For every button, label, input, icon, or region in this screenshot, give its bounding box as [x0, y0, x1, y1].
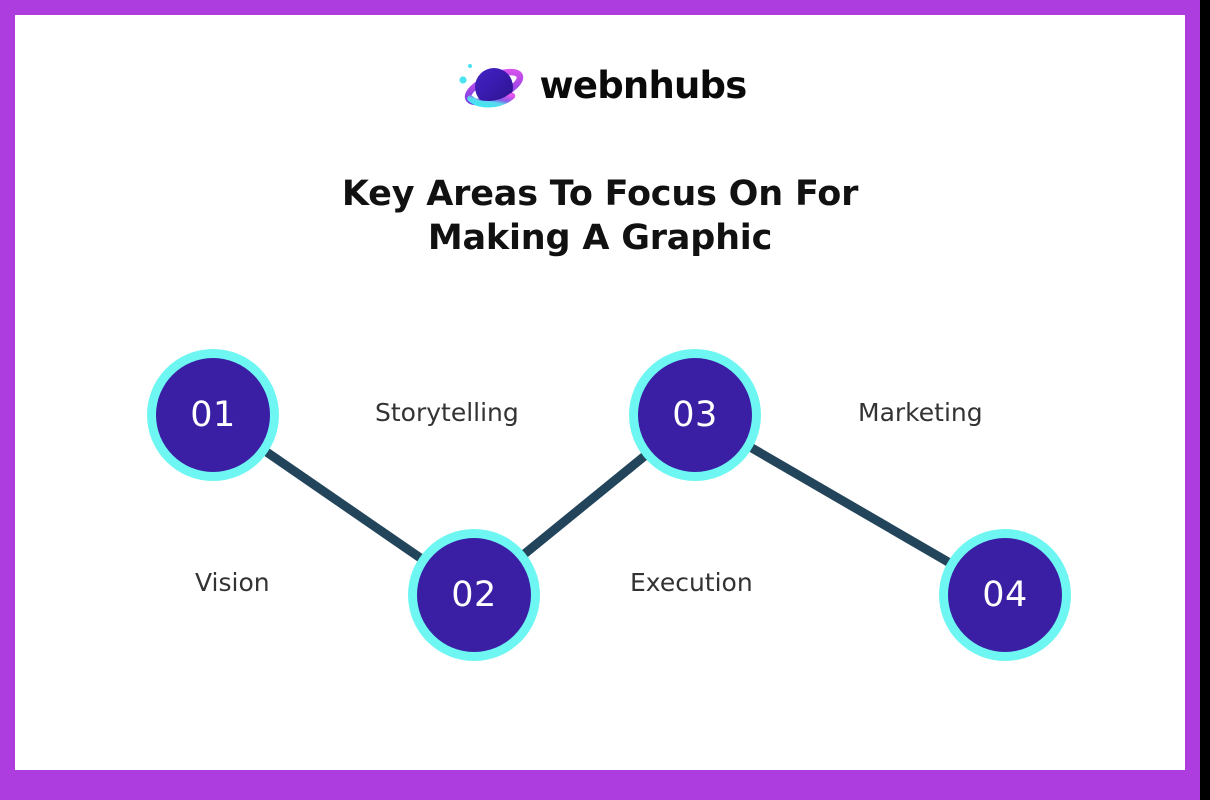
step-node-02[interactable]: 02	[417, 538, 531, 652]
step-label-vision: Vision	[195, 570, 270, 595]
step-number-04: 04	[982, 578, 1028, 613]
step-flow-diagram: 01020304VisionStorytellingExecutionMarke…	[15, 15, 1185, 770]
step-node-03[interactable]: 03	[638, 358, 752, 472]
step-node-01[interactable]: 01	[156, 358, 270, 472]
step-label-execution: Execution	[630, 570, 753, 595]
step-label-marketing: Marketing	[858, 400, 983, 425]
connector-01-to-02	[265, 451, 422, 559]
step-number-01: 01	[190, 398, 236, 433]
connector-03-to-04	[749, 447, 950, 564]
step-label-storytelling: Storytelling	[375, 400, 519, 425]
content-canvas: webnhubs Key Areas To Focus On For Makin…	[15, 15, 1185, 770]
connector-02-to-03	[523, 455, 646, 555]
step-node-04[interactable]: 04	[948, 538, 1062, 652]
step-number-03: 03	[672, 398, 718, 433]
infographic-page: webnhubs Key Areas To Focus On For Makin…	[0, 0, 1210, 800]
step-number-02: 02	[451, 578, 497, 613]
